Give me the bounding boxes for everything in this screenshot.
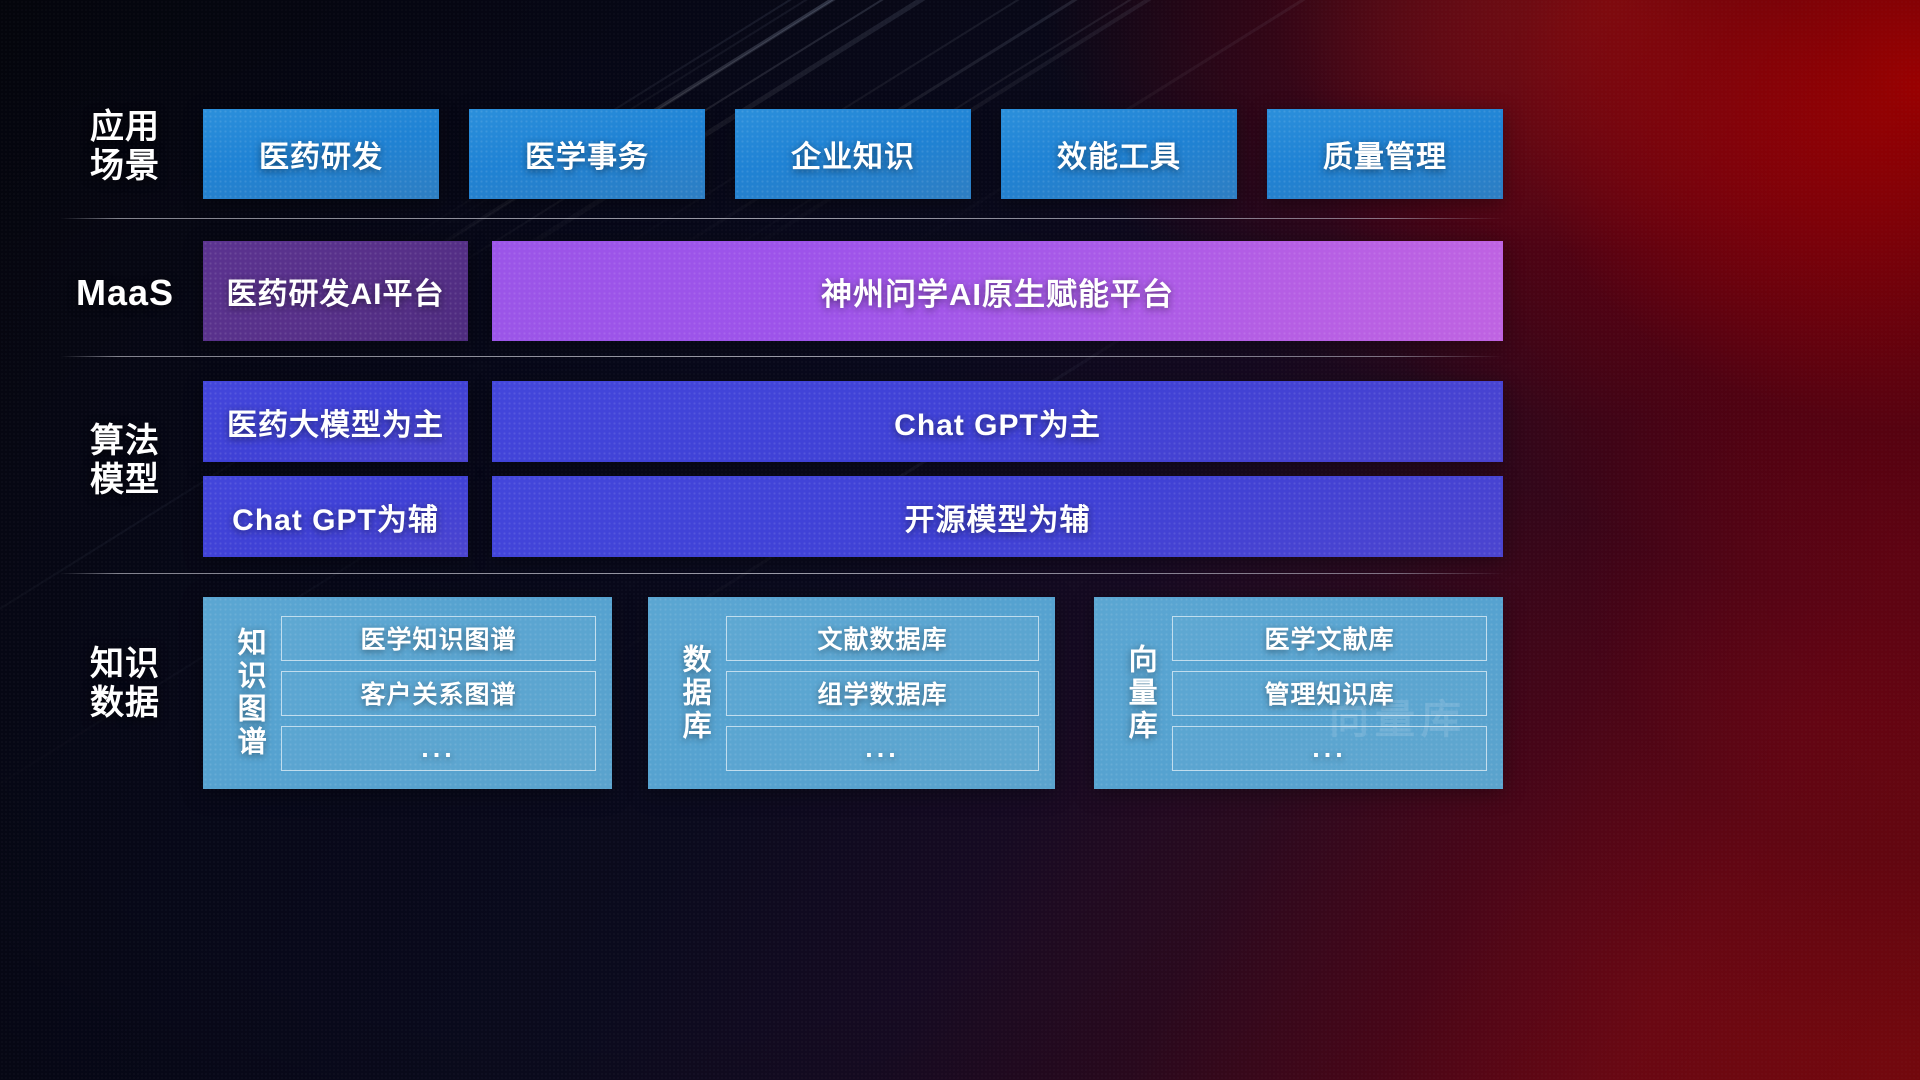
knowledge-item[interactable]: ...	[726, 726, 1039, 771]
app-box-label: 医药研发	[259, 132, 383, 176]
knowledge-card-title: 数据库	[662, 610, 726, 776]
app-box-yiyaoyanfa[interactable]: 医药研发	[203, 109, 439, 199]
app-box-zhiliangguanli[interactable]: 质量管理	[1267, 109, 1503, 199]
knowledge-card-knowledge-graph[interactable]: 知识图谱 医学知识图谱 客户关系图谱 ...	[203, 597, 612, 789]
algo-box-label: Chat GPT为主	[894, 400, 1101, 444]
algo-box-label: 开源模型为辅	[905, 495, 1091, 539]
app-box-qiyezhishi[interactable]: 企业知识	[735, 109, 971, 199]
row-label-algorithm-model: 算法 模型	[60, 422, 190, 501]
maas-box-label: 医药研发AI平台	[227, 269, 445, 313]
app-box-label: 质量管理	[1323, 132, 1447, 176]
row-label-knowledge-data: 知识 数据	[60, 645, 190, 724]
maas-box-shenzhouwenxue-platform[interactable]: 神州问学AI原生赋能平台	[492, 241, 1503, 341]
maas-box-yiyaoyanfa-ai-platform[interactable]: 医药研发AI平台	[203, 241, 468, 341]
maas-box-label: 神州问学AI原生赋能平台	[821, 269, 1174, 314]
app-box-label: 效能工具	[1057, 132, 1181, 176]
algo-box-yiyao-damoxing-primary[interactable]: 医药大模型为主	[203, 381, 468, 462]
knowledge-item[interactable]: 客户关系图谱	[281, 671, 596, 716]
row-label-application-scenarios: 应用 场景	[60, 108, 190, 187]
knowledge-item[interactable]: 医学文献库	[1172, 616, 1487, 661]
algo-box-opensource-secondary[interactable]: 开源模型为辅	[492, 476, 1503, 557]
knowledge-item[interactable]: ...	[1172, 726, 1487, 771]
knowledge-item[interactable]: 管理知识库	[1172, 671, 1487, 716]
knowledge-item[interactable]: 医学知识图谱	[281, 616, 596, 661]
knowledge-card-database[interactable]: 数据库 文献数据库 组学数据库 ...	[648, 597, 1055, 789]
knowledge-card-title: 知识图谱	[217, 610, 281, 776]
knowledge-item[interactable]: 文献数据库	[726, 616, 1039, 661]
app-box-label: 医学事务	[525, 132, 649, 176]
knowledge-card-vector-store[interactable]: 向量库 向量库 医学文献库 管理知识库 ...	[1094, 597, 1503, 789]
algo-box-chatgpt-primary[interactable]: Chat GPT为主	[492, 381, 1503, 462]
diagram-canvas: 应用 场景 医药研发 医学事务 企业知识 效能工具 质量管理 MaaS 医药研发…	[0, 0, 1920, 1080]
knowledge-item[interactable]: 组学数据库	[726, 671, 1039, 716]
divider-after-application-scenarios	[60, 218, 1504, 219]
algo-box-label: Chat GPT为辅	[232, 495, 439, 539]
algo-box-chatgpt-secondary[interactable]: Chat GPT为辅	[203, 476, 468, 557]
app-box-xiaonenggongju[interactable]: 效能工具	[1001, 109, 1237, 199]
app-box-yixueshiwu[interactable]: 医学事务	[469, 109, 705, 199]
knowledge-card-title: 向量库	[1108, 610, 1172, 776]
app-box-label: 企业知识	[791, 132, 915, 176]
knowledge-item[interactable]: ...	[281, 726, 596, 771]
divider-after-algorithm-model	[60, 573, 1504, 574]
algo-box-label: 医药大模型为主	[227, 400, 444, 444]
divider-after-maas	[60, 356, 1504, 357]
row-label-maas: MaaS	[55, 272, 195, 314]
